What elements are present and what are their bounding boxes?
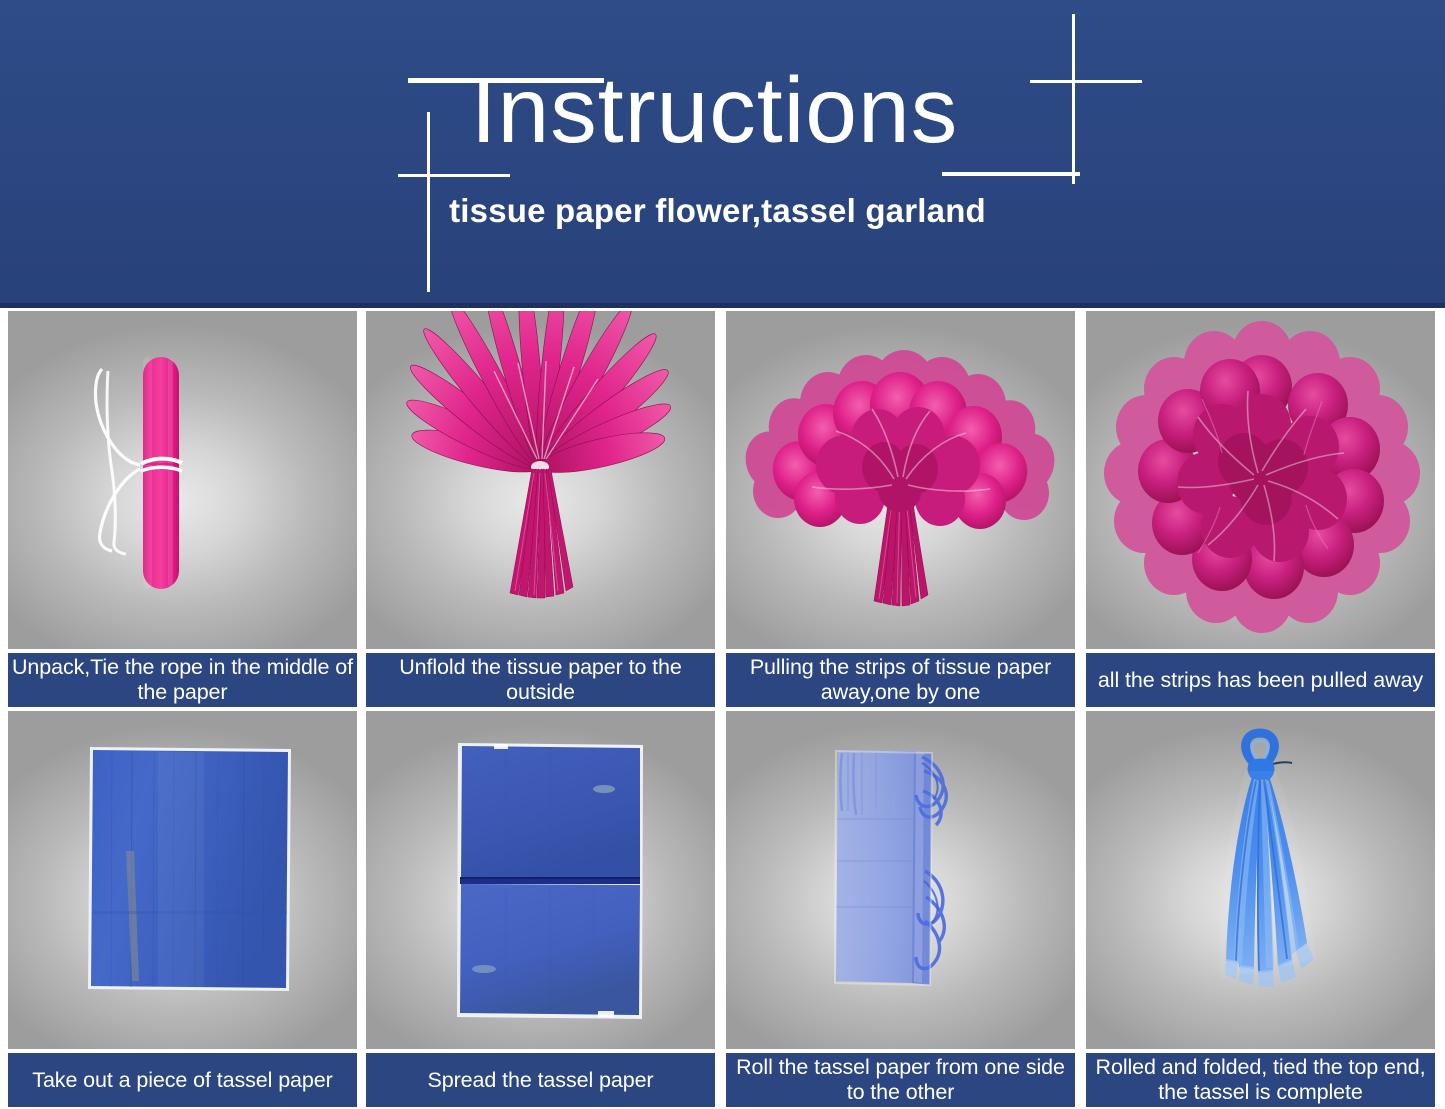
step-caption-8: Rolled and folded, tied the top end, the… — [1086, 1053, 1435, 1107]
steps-row-top: Unpack,Tie the rope in the middle of the… — [0, 311, 1445, 707]
step-card-5: Take out a piece of tassel paper — [8, 711, 357, 1107]
blue-tassel-finished-illustration — [1086, 711, 1435, 1049]
step-caption-1: Unpack,Tie the rope in the middle of the… — [8, 653, 357, 707]
decorative-line-right-middle-horizontal — [942, 172, 1080, 176]
step-photo-3 — [726, 311, 1075, 649]
step-caption-3: Pulling the strips of tissue paper away,… — [726, 653, 1075, 707]
blue-tissue-sheet-spread-crease-illustration — [366, 711, 715, 1049]
step-photo-6 — [366, 711, 715, 1049]
pink-fan-half-open-illustration — [366, 311, 715, 649]
step-caption-2: Unflold the tissue paper to the outside — [366, 653, 715, 707]
step-photo-7 — [726, 711, 1075, 1049]
step-card-3: Pulling the strips of tissue paper away,… — [726, 311, 1075, 707]
step-photo-2 — [366, 311, 715, 649]
step-caption-6: Spread the tassel paper — [366, 1053, 715, 1107]
step-caption-7: Roll the tassel paper from one side to t… — [726, 1053, 1075, 1107]
pink-pompom-full-sphere-illustration — [1086, 311, 1435, 649]
pink-pompom-dome-with-strips-illustration — [726, 311, 1075, 649]
step-photo-8 — [1086, 711, 1435, 1049]
blue-tissue-sheet-flat-illustration — [8, 711, 357, 1049]
step-caption-4: all the strips has been pulled away — [1086, 653, 1435, 707]
step-card-8: Rolled and folded, tied the top end, the… — [1086, 711, 1435, 1107]
folded-pink-bundle-with-string-illustration — [8, 311, 357, 649]
step-card-6: Spread the tassel paper — [366, 711, 715, 1107]
decorative-line-left-middle-horizontal — [398, 174, 510, 177]
steps-row-bottom: Take out a piece of tassel paper — [0, 711, 1445, 1107]
step-card-7: Roll the tassel paper from one side to t… — [726, 711, 1075, 1107]
blue-tissue-rolled-fringe-illustration — [726, 711, 1075, 1049]
step-photo-5 — [8, 711, 357, 1049]
page-title: Instructions — [0, 62, 1437, 160]
step-photo-4 — [1086, 311, 1435, 649]
page-subtitle: tissue paper flower,tassel garland — [0, 192, 1440, 230]
step-caption-5: Take out a piece of tassel paper — [8, 1053, 357, 1107]
step-photo-1 — [8, 311, 357, 649]
step-card-2: Unflold the tissue paper to the outside — [366, 311, 715, 707]
header-banner: Instructions tissue paper flower,tassel … — [0, 0, 1445, 308]
steps-grid: Unpack,Tie the rope in the middle of the… — [0, 308, 1445, 1109]
step-card-4: all the strips has been pulled away — [1086, 311, 1435, 707]
step-card-1: Unpack,Tie the rope in the middle of the… — [8, 311, 357, 707]
